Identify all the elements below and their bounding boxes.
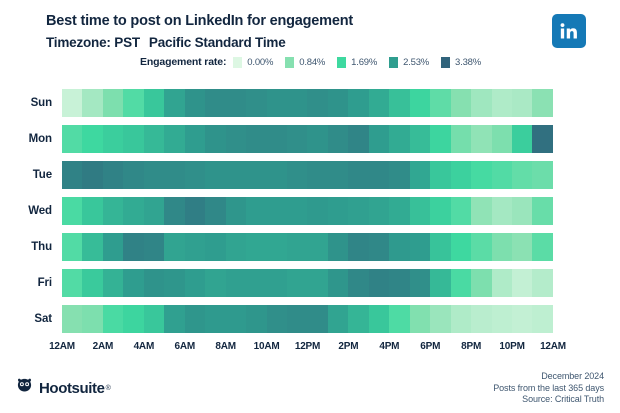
heatmap-cell[interactable] — [369, 269, 389, 297]
heatmap-cell[interactable] — [492, 305, 512, 333]
heatmap-cell[interactable] — [164, 89, 184, 117]
legend-value: 2.53% — [403, 57, 429, 68]
heatmap-cell[interactable] — [348, 197, 368, 225]
legend-swatch — [389, 57, 398, 68]
heatmap-cell[interactable] — [144, 269, 164, 297]
heatmap-cell[interactable] — [451, 161, 471, 189]
heatmap-cell[interactable] — [82, 125, 102, 153]
heatmap-cell[interactable] — [389, 233, 409, 261]
heatmap-cell[interactable] — [164, 305, 184, 333]
heatmap-cell[interactable] — [471, 89, 491, 117]
heatmap-cell[interactable] — [123, 125, 143, 153]
heatmap-cell[interactable] — [62, 269, 82, 297]
heatmap-cell[interactable] — [307, 233, 327, 261]
heatmap-cell[interactable] — [389, 269, 409, 297]
heatmap-cell[interactable] — [430, 197, 450, 225]
brand-trademark: ® — [106, 385, 111, 392]
heatmap-cell[interactable] — [267, 197, 287, 225]
legend-value: 0.00% — [247, 57, 273, 68]
heatmap-cell[interactable] — [246, 233, 266, 261]
heatmap-cell[interactable] — [205, 305, 225, 333]
page-title: Best time to post on LinkedIn for engage… — [46, 12, 516, 31]
heatmap-row-cells — [62, 305, 553, 333]
heatmap-cell[interactable] — [410, 305, 430, 333]
heatmap-cell[interactable] — [226, 233, 246, 261]
heatmap-cell[interactable] — [267, 305, 287, 333]
heatmap-cell[interactable] — [328, 197, 348, 225]
heatmap-cell[interactable] — [82, 269, 102, 297]
x-axis-tick: 4AM — [134, 341, 155, 352]
heatmap-cell[interactable] — [246, 269, 266, 297]
heatmap-row-cells — [62, 233, 553, 261]
day-label-tue: Tue — [0, 157, 52, 193]
legend-item: 2.53% — [389, 57, 436, 68]
heatmap-cell[interactable] — [82, 161, 102, 189]
heatmap-row-cells — [62, 125, 553, 153]
heatmap-cell[interactable] — [185, 89, 205, 117]
heatmap-cell[interactable] — [82, 305, 102, 333]
heatmap-cell[interactable] — [532, 125, 552, 153]
heatmap-cell[interactable] — [512, 197, 532, 225]
heatmap-cell[interactable] — [430, 305, 450, 333]
hootsuite-brand: Hootsuite ® — [16, 378, 111, 398]
heatmap-cell[interactable] — [389, 161, 409, 189]
timezone-name: Pacific Standard Time — [149, 35, 286, 50]
heatmap-cell[interactable] — [62, 305, 82, 333]
heatmap-cell[interactable] — [348, 269, 368, 297]
heatmap-cell[interactable] — [123, 269, 143, 297]
heatmap-cell[interactable] — [205, 125, 225, 153]
heatmap-cell[interactable] — [287, 233, 307, 261]
heatmap-cell[interactable] — [123, 89, 143, 117]
heatmap-cell[interactable] — [307, 197, 327, 225]
footer-meta-line: December 2024 — [493, 371, 604, 383]
heatmap-row: Fri — [0, 265, 620, 301]
heatmap-cell[interactable] — [164, 125, 184, 153]
heatmap-cell[interactable] — [246, 89, 266, 117]
x-axis-tick: 8AM — [215, 341, 236, 352]
heatmap-cell[interactable] — [123, 161, 143, 189]
legend-swatch — [233, 57, 242, 68]
legend-item: 0.84% — [285, 57, 332, 68]
heatmap-cell[interactable] — [369, 197, 389, 225]
heatmap-cell[interactable] — [185, 161, 205, 189]
legend-swatch — [337, 57, 346, 68]
timezone-subtitle: Timezone: PSTPacific Standard Time — [46, 33, 516, 52]
heatmap-cell[interactable] — [226, 125, 246, 153]
legend-value: 1.69% — [351, 57, 377, 68]
heatmap-cell[interactable] — [410, 269, 430, 297]
heatmap-grid: SunMonTueWedThuFriSat — [0, 85, 620, 337]
heatmap-cell[interactable] — [226, 161, 246, 189]
heatmap-cell[interactable] — [451, 269, 471, 297]
heatmap-cell[interactable] — [267, 233, 287, 261]
x-axis-tick: 12AM — [49, 341, 75, 352]
heatmap-cell[interactable] — [328, 89, 348, 117]
heatmap-cell[interactable] — [328, 233, 348, 261]
heatmap-cell[interactable] — [82, 197, 102, 225]
heatmap-cell[interactable] — [451, 305, 471, 333]
heatmap-row-cells — [62, 269, 553, 297]
heatmap-row-cells — [62, 89, 553, 117]
linkedin-icon — [552, 14, 586, 48]
heatmap-cell[interactable] — [205, 161, 225, 189]
heatmap-cell[interactable] — [328, 125, 348, 153]
heatmap-cell[interactable] — [205, 89, 225, 117]
heatmap-cell[interactable] — [103, 269, 123, 297]
heatmap-cell[interactable] — [389, 305, 409, 333]
heatmap-cell[interactable] — [62, 125, 82, 153]
heatmap-cell[interactable] — [205, 233, 225, 261]
heatmap-cell[interactable] — [62, 89, 82, 117]
heatmap-cell[interactable] — [307, 161, 327, 189]
heatmap-cell[interactable] — [246, 305, 266, 333]
heatmap-cell[interactable] — [164, 233, 184, 261]
heatmap-cell[interactable] — [471, 233, 491, 261]
heatmap-cell[interactable] — [492, 125, 512, 153]
heatmap-cell[interactable] — [205, 269, 225, 297]
heatmap-cell[interactable] — [410, 197, 430, 225]
heatmap-cell[interactable] — [451, 197, 471, 225]
day-label-thu: Thu — [0, 229, 52, 265]
heatmap-cell[interactable] — [144, 305, 164, 333]
heatmap-row-cells — [62, 161, 553, 189]
footer-meta-line: Posts from the last 365 days — [493, 383, 604, 395]
x-axis-tick: 2AM — [93, 341, 114, 352]
x-axis-tick: 12PM — [295, 341, 320, 352]
heatmap-cell[interactable] — [410, 233, 430, 261]
heatmap-row: Sun — [0, 85, 620, 121]
heatmap-cell[interactable] — [103, 89, 123, 117]
heatmap-cell[interactable] — [287, 197, 307, 225]
heatmap-cell[interactable] — [492, 161, 512, 189]
heatmap-cell[interactable] — [471, 197, 491, 225]
heatmap-cell[interactable] — [246, 125, 266, 153]
heatmap-cell[interactable] — [103, 197, 123, 225]
heatmap-cell[interactable] — [532, 305, 552, 333]
heatmap-cell[interactable] — [287, 125, 307, 153]
heatmap-cell[interactable] — [164, 269, 184, 297]
heatmap-cell[interactable] — [144, 125, 164, 153]
heatmap-cell[interactable] — [144, 89, 164, 117]
day-label-sun: Sun — [0, 85, 52, 121]
heatmap-cell[interactable] — [451, 89, 471, 117]
heatmap-cell[interactable] — [451, 233, 471, 261]
heatmap-row-cells — [62, 197, 553, 225]
heatmap-row: Tue — [0, 157, 620, 193]
heatmap-cell[interactable] — [103, 305, 123, 333]
brand-name: Hootsuite — [39, 380, 105, 397]
heatmap-cell[interactable] — [348, 161, 368, 189]
heatmap-cell[interactable] — [430, 269, 450, 297]
legend-item: 0.00% — [233, 57, 280, 68]
heatmap-cell[interactable] — [369, 89, 389, 117]
heatmap-cell[interactable] — [103, 233, 123, 261]
legend-swatch — [441, 57, 450, 68]
heatmap-row: Wed — [0, 193, 620, 229]
heatmap-row: Sat — [0, 301, 620, 337]
heatmap-cell[interactable] — [369, 125, 389, 153]
heatmap-cell[interactable] — [144, 197, 164, 225]
x-axis-tick: 8PM — [461, 341, 481, 352]
heatmap-cell[interactable] — [287, 89, 307, 117]
heatmap-cell[interactable] — [307, 89, 327, 117]
heatmap-cell[interactable] — [62, 233, 82, 261]
x-axis-tick: 6AM — [174, 341, 195, 352]
heatmap-cell[interactable] — [348, 233, 368, 261]
heatmap-row: Mon — [0, 121, 620, 157]
heatmap-cell[interactable] — [82, 233, 102, 261]
heatmap-cell[interactable] — [369, 161, 389, 189]
heatmap-cell[interactable] — [307, 269, 327, 297]
heatmap-cell[interactable] — [185, 233, 205, 261]
legend-value: 3.38% — [455, 57, 481, 68]
heatmap-cell[interactable] — [123, 233, 143, 261]
heatmap-cell[interactable] — [410, 125, 430, 153]
heatmap-cell[interactable] — [512, 89, 532, 117]
heatmap-cell[interactable] — [471, 305, 491, 333]
heatmap-cell[interactable] — [512, 305, 532, 333]
heatmap-cell[interactable] — [307, 305, 327, 333]
x-axis-tick: 6PM — [420, 341, 440, 352]
heatmap-cell[interactable] — [430, 161, 450, 189]
heatmap-cell[interactable] — [492, 233, 512, 261]
owl-icon — [16, 378, 33, 398]
legend-item: 1.69% — [337, 57, 384, 68]
heatmap-cell[interactable] — [328, 269, 348, 297]
heatmap-cell[interactable] — [185, 305, 205, 333]
legend-swatch — [285, 57, 294, 68]
heatmap-cell[interactable] — [185, 269, 205, 297]
heatmap-cell[interactable] — [492, 89, 512, 117]
heatmap-cell[interactable] — [62, 197, 82, 225]
heatmap-cell[interactable] — [144, 161, 164, 189]
heatmap-cell[interactable] — [389, 89, 409, 117]
heatmap-cell[interactable] — [348, 125, 368, 153]
heatmap-cell[interactable] — [267, 269, 287, 297]
heatmap-cell[interactable] — [512, 269, 532, 297]
heatmap-cell[interactable] — [532, 89, 552, 117]
heatmap-cell[interactable] — [471, 269, 491, 297]
heatmap-cell[interactable] — [369, 233, 389, 261]
heatmap-cell[interactable] — [267, 89, 287, 117]
heatmap-cell[interactable] — [471, 161, 491, 189]
day-label-wed: Wed — [0, 193, 52, 229]
heatmap-cell[interactable] — [430, 89, 450, 117]
heatmap-cell[interactable] — [532, 269, 552, 297]
heatmap-cell[interactable] — [267, 125, 287, 153]
heatmap-cell[interactable] — [512, 161, 532, 189]
x-axis-tick: 2PM — [338, 341, 358, 352]
legend-item: 3.38% — [441, 57, 488, 68]
x-axis-tick: 10AM — [254, 341, 280, 352]
day-label-mon: Mon — [0, 121, 52, 157]
x-axis: 12AM2AM4AM6AM8AM10AM12PM2PM4PM6PM8PM10PM… — [62, 341, 553, 357]
heatmap-cell[interactable] — [226, 305, 246, 333]
heatmap-cell[interactable] — [164, 197, 184, 225]
heatmap-cell[interactable] — [430, 125, 450, 153]
heatmap-cell[interactable] — [451, 125, 471, 153]
chart-canvas: Best time to post on LinkedIn for engage… — [0, 0, 620, 413]
heatmap-cell[interactable] — [144, 233, 164, 261]
heatmap-cell[interactable] — [307, 125, 327, 153]
heatmap-cell[interactable] — [82, 89, 102, 117]
heatmap-cell[interactable] — [246, 197, 266, 225]
heatmap-cell[interactable] — [348, 305, 368, 333]
timezone-label: Timezone: PST — [46, 35, 140, 50]
heatmap-cell[interactable] — [328, 305, 348, 333]
heatmap-cell[interactable] — [123, 305, 143, 333]
heatmap-cell[interactable] — [532, 161, 552, 189]
legend-value: 0.84% — [299, 57, 325, 68]
heatmap-cell[interactable] — [226, 89, 246, 117]
heatmap-cell[interactable] — [492, 197, 512, 225]
heatmap-cell[interactable] — [389, 125, 409, 153]
heatmap-cell[interactable] — [205, 197, 225, 225]
heatmap-cell[interactable] — [430, 233, 450, 261]
heatmap-cell[interactable] — [389, 197, 409, 225]
footer-meta-line: Source: Critical Truth — [493, 394, 604, 406]
heatmap-cell[interactable] — [123, 197, 143, 225]
heatmap-cell[interactable] — [471, 125, 491, 153]
heatmap-cell[interactable] — [532, 197, 552, 225]
heatmap-cell[interactable] — [62, 161, 82, 189]
heatmap-row: Thu — [0, 229, 620, 265]
heatmap-cell[interactable] — [512, 233, 532, 261]
chart-header: Best time to post on LinkedIn for engage… — [46, 12, 516, 52]
heatmap-cell[interactable] — [103, 125, 123, 153]
heatmap-cell[interactable] — [185, 197, 205, 225]
heatmap-cell[interactable] — [369, 305, 389, 333]
heatmap-cell[interactable] — [328, 161, 348, 189]
footer-meta: December 2024Posts from the last 365 day… — [493, 371, 604, 406]
heatmap-cell[interactable] — [226, 269, 246, 297]
x-axis-tick: 4PM — [379, 341, 399, 352]
heatmap-cell[interactable] — [512, 125, 532, 153]
heatmap-cell[interactable] — [226, 197, 246, 225]
heatmap-cell[interactable] — [410, 89, 430, 117]
x-axis-tick: 10PM — [499, 341, 524, 352]
heatmap-cell[interactable] — [287, 305, 307, 333]
heatmap-cell[interactable] — [164, 161, 184, 189]
heatmap-cell[interactable] — [492, 269, 512, 297]
x-axis-tick: 12AM — [540, 341, 566, 352]
heatmap-cell[interactable] — [287, 269, 307, 297]
legend: Engagement rate: 0.00%0.84%1.69%2.53%3.3… — [140, 55, 493, 69]
heatmap-cell[interactable] — [287, 161, 307, 189]
heatmap-cell[interactable] — [267, 161, 287, 189]
heatmap-cell[interactable] — [246, 161, 266, 189]
heatmap-cell[interactable] — [410, 161, 430, 189]
heatmap-cell[interactable] — [103, 161, 123, 189]
heatmap-cell[interactable] — [185, 125, 205, 153]
heatmap-cell[interactable] — [348, 89, 368, 117]
day-label-fri: Fri — [0, 265, 52, 301]
day-label-sat: Sat — [0, 301, 52, 337]
legend-title: Engagement rate: — [140, 56, 226, 68]
heatmap-cell[interactable] — [532, 233, 552, 261]
